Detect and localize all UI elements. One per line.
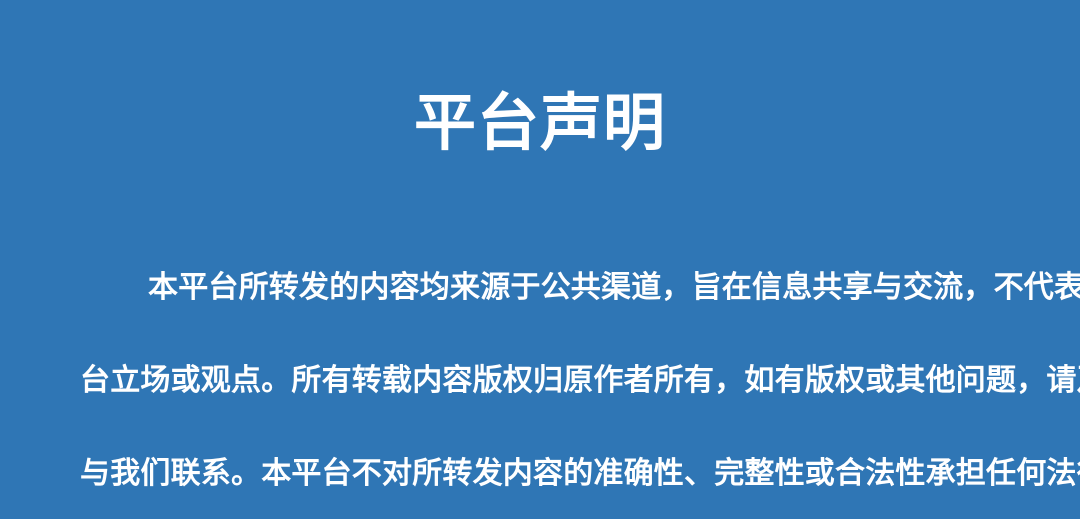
statement-paragraph-line: 与我们联系。本平台不对所转发内容的准确性、完整性或合法性承担任何法律责 <box>80 442 1000 505</box>
statement-paragraph-line: 本平台所转发的内容均来源于公共渠道，旨在信息共享与交流，不代表本平 <box>80 256 1000 319</box>
statement-paragraph-line: 台立场或观点。所有转载内容版权归原作者所有，如有版权或其他问题，请及时 <box>80 349 1000 412</box>
statement-body: 本平台所转发的内容均来源于公共渠道，旨在信息共享与交流，不代表本平 台立场或观点… <box>80 226 1000 519</box>
page-title: 平台声明 <box>0 86 1080 162</box>
platform-statement-card: 平台声明 本平台所转发的内容均来源于公共渠道，旨在信息共享与交流，不代表本平 台… <box>0 0 1080 519</box>
